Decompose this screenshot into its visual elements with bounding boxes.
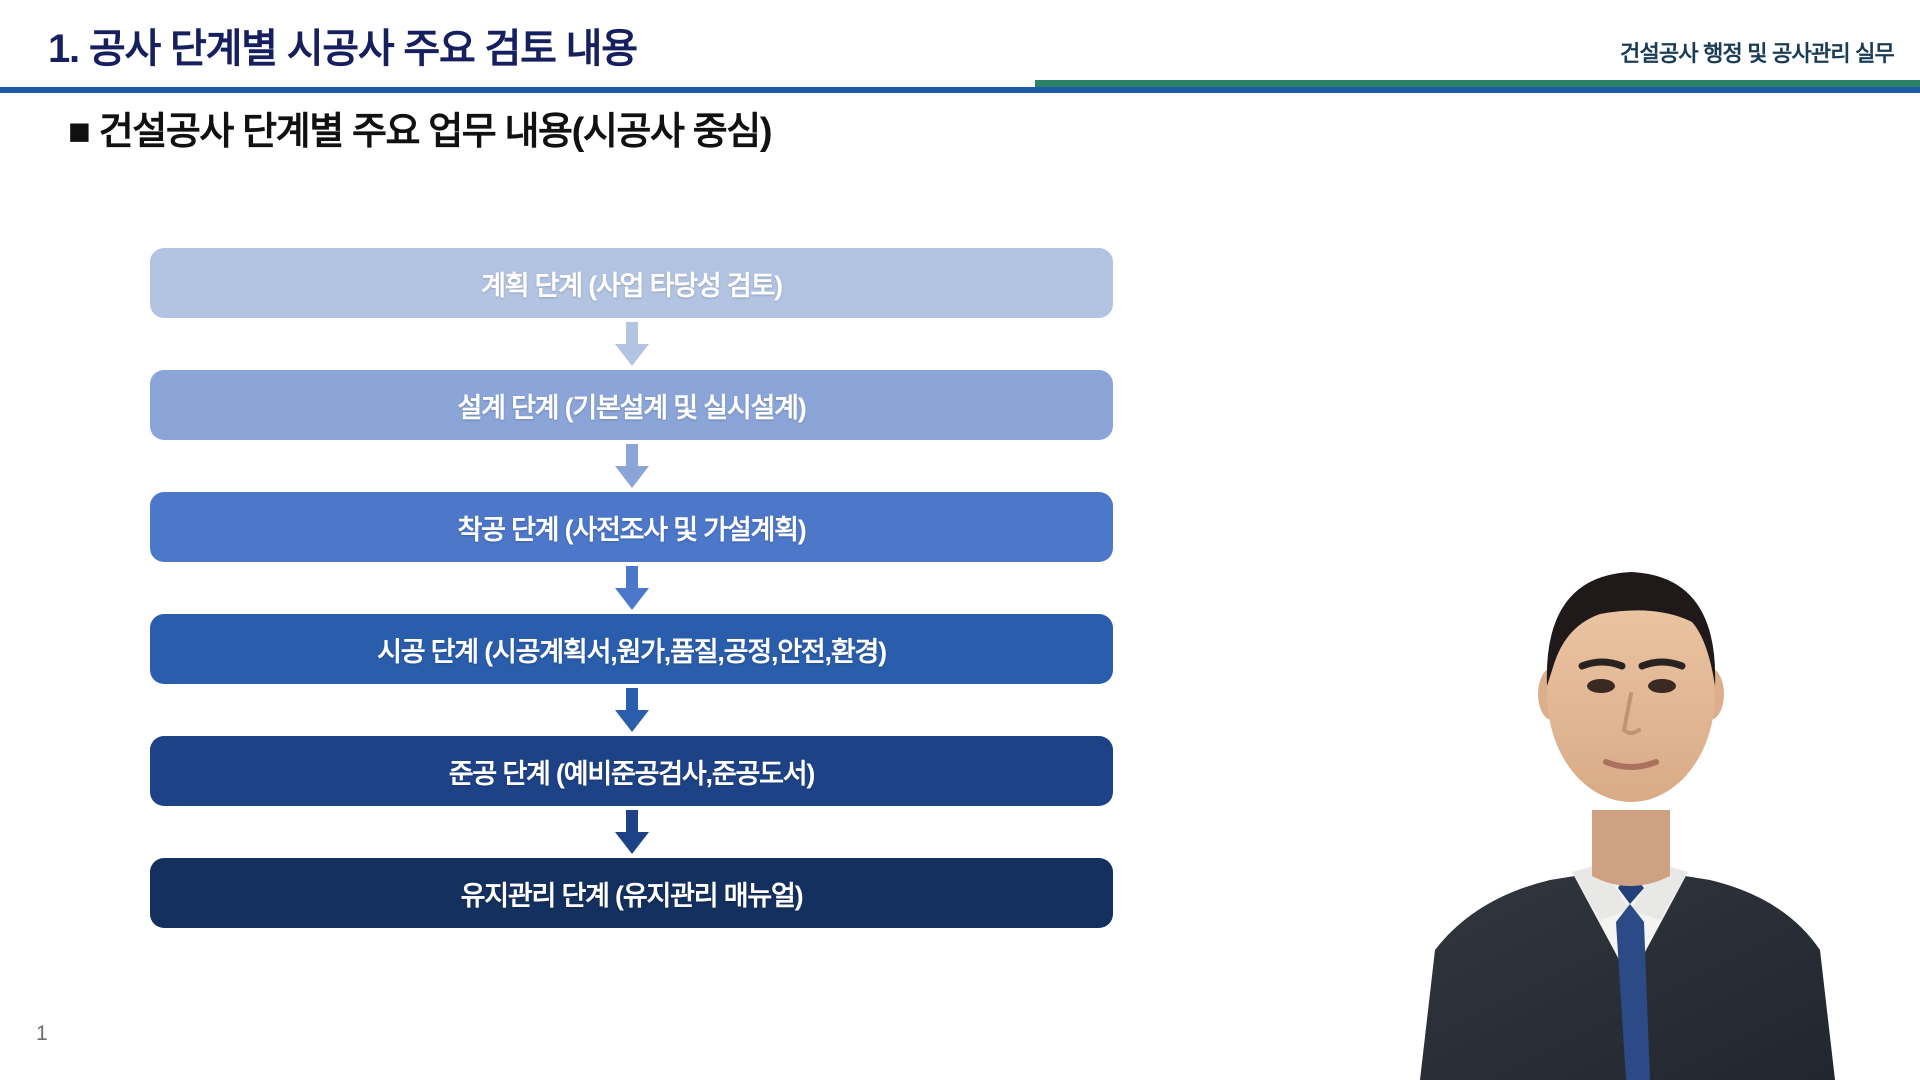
presenter-brow-right [1642,662,1682,666]
flow-arrow [150,562,1113,614]
page-number: 1 [36,1022,48,1046]
flow-step-label: 유지관리 단계 (유지관리 매뉴얼) [461,874,803,913]
slide-header: 1. 공사 단계별 시공사 주요 검토 내용 건설공사 행정 및 공사관리 실무 [0,0,1920,95]
down-arrow-icon [615,810,649,854]
section-subtitle: ■ 건설공사 단계별 주요 업무 내용(시공사 중심) [68,100,771,155]
presenter-tie-knot [1618,878,1644,904]
presenter-ear-right [1696,668,1724,720]
flow-step-box: 시공 단계 (시공계획서,원가,품질,공정,안전,환경) [150,614,1113,684]
presenter-video-overlay [1300,480,1920,1080]
flow-arrow [150,440,1113,492]
presenter-neck [1592,810,1670,886]
process-flow-diagram: 계획 단계 (사업 타당성 검토)설계 단계 (기본설계 및 실시설계)착공 단… [150,248,1113,928]
presenter-collar-left [1572,864,1630,920]
presenter-face [1547,586,1715,802]
flow-arrow [150,684,1113,736]
page-title: 1. 공사 단계별 시공사 주요 검토 내용 [48,16,637,74]
presenter-mouth [1606,762,1656,767]
flow-step-box: 설계 단계 (기본설계 및 실시설계) [150,370,1113,440]
flow-step-label: 시공 단계 (시공계획서,원가,품질,공정,안전,환경) [377,630,886,669]
presenter-nose [1624,694,1639,733]
presenter-eye-left [1587,679,1615,693]
flow-step-label: 준공 단계 (예비준공검사,준공도서) [449,752,814,791]
flow-step-label: 착공 단계 (사전조사 및 가설계획) [457,508,805,547]
presenter-ear-left [1538,668,1566,720]
flow-step-label: 설계 단계 (기본설계 및 실시설계) [457,386,805,425]
presenter-brow-left [1582,662,1622,666]
presenter-shirt [1572,864,1688,980]
header-rule-teal [1035,80,1920,87]
down-arrow-icon [615,444,649,488]
down-arrow-icon [615,688,649,732]
flow-step-box: 유지관리 단계 (유지관리 매뉴얼) [150,858,1113,928]
presenter-suit [1420,872,1835,1080]
presenter-figure [1300,480,1920,1080]
flow-step-box: 준공 단계 (예비준공검사,준공도서) [150,736,1113,806]
flow-step-box: 계획 단계 (사업 타당성 검토) [150,248,1113,318]
flow-arrow [150,318,1113,370]
down-arrow-icon [615,566,649,610]
course-label: 건설공사 행정 및 공사관리 실무 [1620,36,1894,68]
presenter-eye-right [1648,679,1676,693]
header-rule-blue [0,87,1920,93]
presenter-hair [1547,572,1715,686]
presenter-tie [1616,904,1650,1080]
flow-step-box: 착공 단계 (사전조사 및 가설계획) [150,492,1113,562]
presenter-collar-right [1630,864,1688,920]
flow-arrow [150,806,1113,858]
flow-step-label: 계획 단계 (사업 타당성 검토) [481,264,782,303]
down-arrow-icon [615,322,649,366]
slide: 1. 공사 단계별 시공사 주요 검토 내용 건설공사 행정 및 공사관리 실무… [0,0,1920,1080]
